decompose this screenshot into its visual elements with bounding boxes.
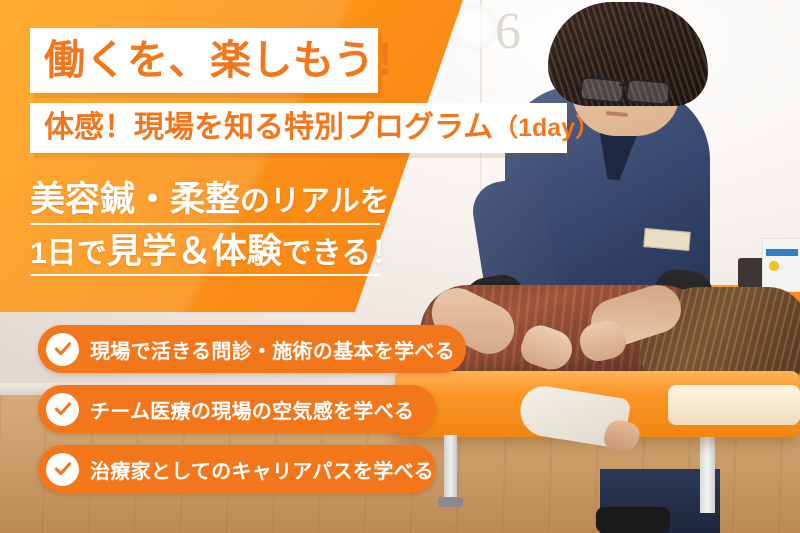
table-leg-right: [700, 435, 715, 513]
subtitle-line1-rest: のリアルを: [240, 185, 390, 218]
subtitle-line2-emphasis: 見学＆体験: [107, 232, 282, 271]
headline-band-primary: 働くを、楽しもう！: [30, 28, 378, 93]
subtitle-block: 美容鍼・柔整のリアルを 1日で見学＆体験できる！: [30, 182, 380, 285]
subtitle-line-1: 美容鍼・柔整のリアルを: [30, 182, 380, 225]
table-foot-left: [438, 497, 463, 507]
product-box: [762, 238, 800, 292]
check-icon: [46, 333, 79, 366]
therapist-shoe: [596, 507, 670, 533]
promo-banner: 6: [0, 0, 800, 533]
therapist-name-badge: [643, 228, 690, 251]
wall-room-number: 6: [495, 2, 521, 61]
subtitle-line-2: 1日で見学＆体験できる！: [30, 234, 380, 277]
table-head-pad: [668, 385, 800, 425]
benefit-pill-3: 治療家としてのキャリアパスを学べる: [38, 445, 436, 493]
headline-secondary-suffix: （1day）: [493, 116, 600, 141]
benefit-pill-2: チーム医療の現場の空気感を学べる: [38, 385, 436, 433]
check-icon: [46, 393, 79, 426]
headline-primary-text: 働くを、楽しもう！: [44, 40, 416, 81]
check-icon: [46, 453, 79, 486]
glasses-right-lens-icon: [625, 78, 671, 106]
subtitle-line2-prefix: 1日で: [30, 237, 107, 270]
glasses-bridge: [619, 84, 629, 86]
benefit-label-2: チーム医療の現場の空気感を学べる: [90, 395, 414, 424]
headline-band-secondary: 体感！現場を知る特別プログラム（1day）: [30, 103, 567, 153]
benefit-label-3: 治療家としてのキャリアパスを学べる: [90, 455, 434, 484]
headline-secondary-text: 体感！現場を知る特別プログラム: [44, 113, 493, 143]
subtitle-line2-rest: できる！: [282, 237, 401, 270]
glasses-left-lens-icon: [579, 76, 625, 104]
subtitle-line1-emphasis: 美容鍼・柔整: [30, 180, 240, 219]
benefit-label-1: 現場で活きる問診・施術の基本を学べる: [90, 335, 455, 364]
table-leg-left: [444, 435, 457, 499]
benefit-pill-1: 現場で活きる問診・施術の基本を学べる: [38, 325, 466, 373]
